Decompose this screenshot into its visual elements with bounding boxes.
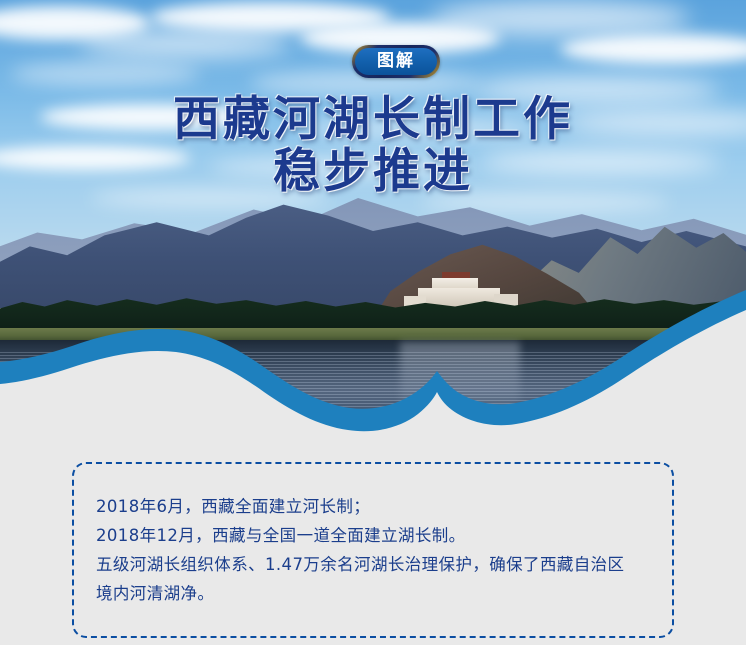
infographic-page: 图解 西藏河湖长制工作 稳步推进 2018年6月，西藏全面建立河长制； 2018… [0, 0, 746, 645]
page-title: 西藏河湖长制工作 稳步推进 [0, 95, 746, 197]
summary-line: 五级河湖长组织体系、1.47万余名河湖长治理保护，确保了西藏自治区 [96, 550, 650, 579]
tag-badge-label: 图解 [377, 53, 415, 70]
summary-text-block: 2018年6月，西藏全面建立河长制； 2018年12月，西藏与全国一道全面建立湖… [74, 464, 672, 608]
cloud-icon [10, 62, 200, 86]
tag-badge[interactable]: 图解 [352, 45, 440, 78]
summary-line: 境内河清湖净。 [96, 579, 650, 608]
lake-reflection [400, 342, 520, 420]
cloud-icon [80, 30, 290, 58]
summary-line: 2018年12月，西藏与全国一道全面建立湖长制。 [96, 521, 650, 550]
summary-box: 2018年6月，西藏全面建立河长制； 2018年12月，西藏与全国一道全面建立湖… [72, 462, 674, 638]
lake-shimmer [0, 352, 746, 410]
cloud-icon [430, 0, 690, 36]
summary-line: 2018年6月，西藏全面建立河长制； [96, 492, 650, 521]
page-title-line-2: 稳步推进 [0, 147, 746, 197]
tag-badge-inner: 图解 [355, 48, 437, 75]
page-title-line-1: 西藏河湖长制工作 [0, 95, 746, 145]
